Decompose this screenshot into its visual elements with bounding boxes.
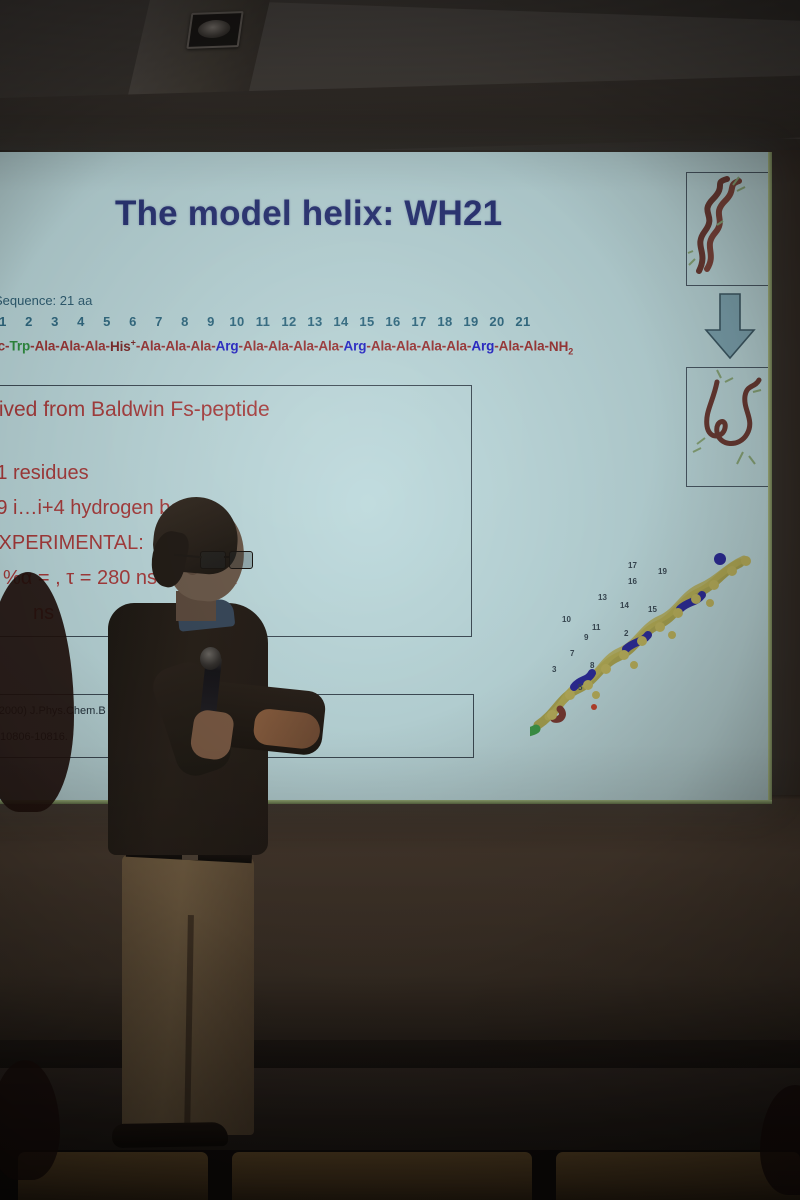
helix-cartoon-icon <box>687 173 771 283</box>
residue-20: Ala <box>499 339 520 354</box>
sequence-number: 15 <box>354 314 380 329</box>
sequence-number: 12 <box>276 314 302 329</box>
residue-number: 11 <box>592 623 600 632</box>
sequence-number: 3 <box>42 314 68 329</box>
residue-17: Ala <box>421 339 442 354</box>
sequence-number: 14 <box>328 314 354 329</box>
sequence-number: 1 <box>0 314 16 329</box>
sequence-number: 6 <box>120 314 146 329</box>
sequence-number: 20 <box>484 314 510 329</box>
sequence-number: 8 <box>172 314 198 329</box>
residue-number: 17 <box>628 561 637 570</box>
screen-edge-right <box>768 152 772 804</box>
c-terminus: NH2 <box>549 339 573 354</box>
sequence-number: 10 <box>224 314 250 329</box>
spotlight-lens <box>197 19 232 38</box>
residue-10: Ala <box>243 339 264 354</box>
molecular-model: 3 5 7 8 9 10 11 13 14 15 16 17 19 2 <box>530 537 760 737</box>
body-heading: Derived from Baldwin Fs-peptide <box>0 398 270 422</box>
sequence-number: 9 <box>198 314 224 329</box>
residue-6: Ala <box>140 339 161 354</box>
glasses-lens <box>229 551 253 569</box>
residue-21: Ala <box>524 339 545 354</box>
helix-structure-icon <box>530 537 760 737</box>
slide-title: The model helix: WH21 <box>115 194 502 234</box>
residue-14: Arg <box>343 339 366 354</box>
residue-1: Trp <box>9 339 30 354</box>
sequence-number: 19 <box>458 314 484 329</box>
sequence-numbers: 123456789101112131415161718192021 <box>0 314 536 329</box>
residue-number: 13 <box>598 593 607 602</box>
residue-5: His+ <box>110 339 136 354</box>
glasses-lens <box>200 551 226 569</box>
body-bullet-1: - 21 residues <box>0 462 89 485</box>
coil-cartoon-icon <box>687 368 771 484</box>
residue-number: 8 <box>590 661 594 670</box>
coil-cartoon-panel <box>686 367 772 487</box>
residue-number: 14 <box>620 601 629 610</box>
sequence-number: 11 <box>250 314 276 329</box>
sequence-number: 13 <box>302 314 328 329</box>
glasses-icon <box>200 551 254 568</box>
sequence-number: 7 <box>146 314 172 329</box>
sequence-number: 16 <box>380 314 406 329</box>
residue-3: Ala <box>60 339 81 354</box>
residue-13: Ala <box>318 339 339 354</box>
sequence-number: 5 <box>94 314 120 329</box>
sequence-number: 4 <box>68 314 94 329</box>
residue-number: 3 <box>552 665 556 674</box>
residue-19: Arg <box>471 339 494 354</box>
lecture-hall-photo: The model helix: WH21 Sequence: 21 aa 12… <box>0 0 800 1200</box>
residue-number: 15 <box>648 605 657 614</box>
residue-number: 16 <box>628 577 637 586</box>
sequence-number: 2 <box>16 314 42 329</box>
residue-2: Ala <box>35 339 56 354</box>
residue-8: Ala <box>190 339 211 354</box>
speaker-shoe <box>112 1122 228 1148</box>
sequence-number: 18 <box>432 314 458 329</box>
residue-11: Ala <box>268 339 289 354</box>
residue-number: 19 <box>658 567 667 576</box>
glasses-bridge <box>224 556 230 558</box>
transition-arrow <box>700 292 760 362</box>
sequence-number: 17 <box>406 314 432 329</box>
down-arrow-icon <box>700 292 760 362</box>
helix-cartoon-panel <box>686 172 772 286</box>
sequence-number: 21 <box>510 314 536 329</box>
speaker <box>60 495 310 1155</box>
sequence-chain: Ac-Trp-Ala-Ala-Ala-His+-Ala-Ala-Ala-Arg-… <box>0 337 573 356</box>
residue-number: 7 <box>570 649 574 658</box>
residue-7: Ala <box>165 339 186 354</box>
residue-18: Ala <box>446 339 467 354</box>
residue-number: 10 <box>562 615 571 624</box>
residue-number: 5 <box>578 683 582 692</box>
sequence-label: Sequence: 21 aa <box>0 293 92 308</box>
residue-15: Ala <box>371 339 392 354</box>
residue-9: Arg <box>216 339 239 354</box>
ceiling-spotlight-icon <box>186 11 243 49</box>
residue-16: Ala <box>396 339 417 354</box>
residue-number: 9 <box>584 633 588 642</box>
residue-number: 2 <box>624 629 628 638</box>
residue-12: Ala <box>293 339 314 354</box>
residue-4: Ala <box>85 339 106 354</box>
c-terminus-subscript: 2 <box>568 346 573 356</box>
chair-back <box>232 1152 532 1200</box>
